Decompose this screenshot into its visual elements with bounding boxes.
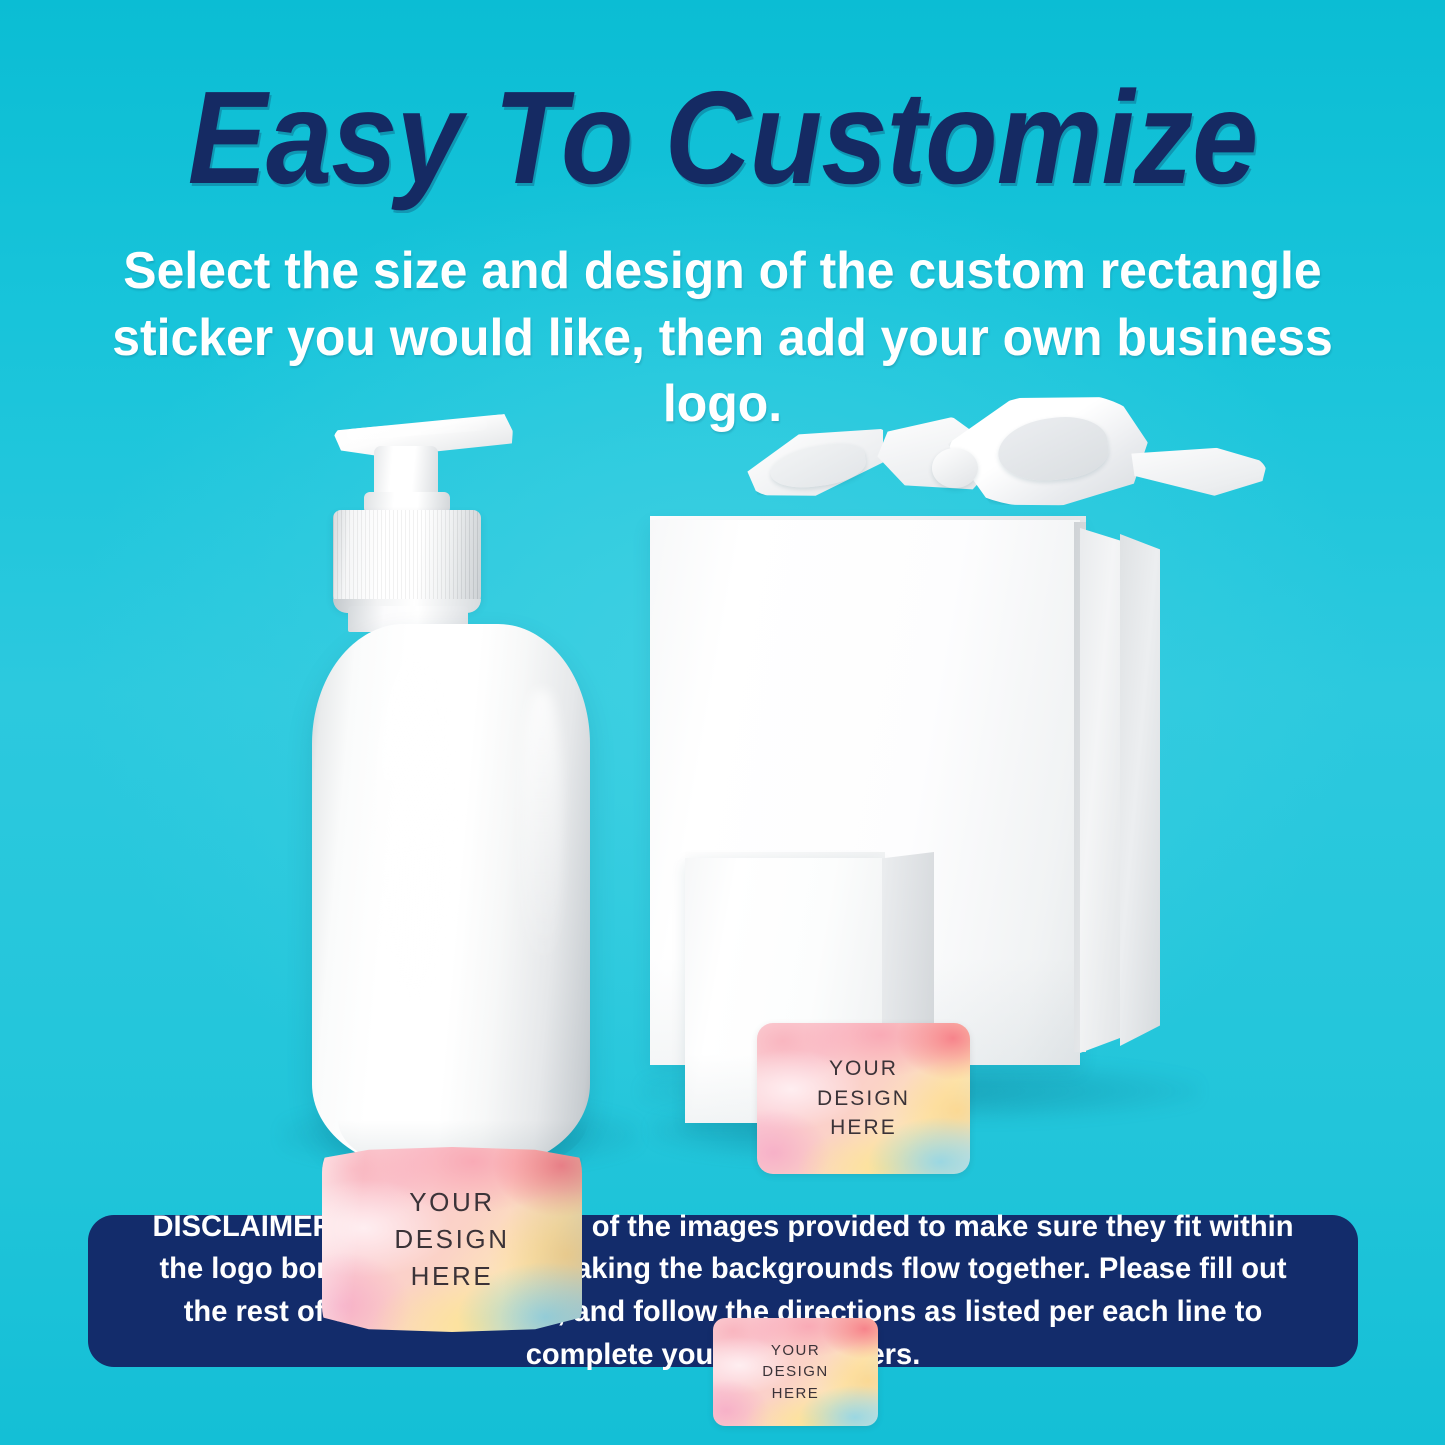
sticker-line-1: YOUR [762, 1340, 829, 1361]
ribbon-tail-right [1128, 437, 1269, 503]
ribbon-knot [932, 448, 978, 488]
sticker-on-gift-box[interactable]: YOUR DESIGN HERE [757, 1023, 970, 1174]
sticker-text: YOUR DESIGN HERE [817, 1054, 910, 1143]
gift-box-back-face [1120, 534, 1160, 1046]
bottle-body [312, 624, 590, 1170]
pump-bottle [300, 410, 600, 1170]
bottle-ribbed-collar [333, 510, 481, 608]
product-scene: YOUR DESIGN HERE YOUR DESIGN HERE YOUR D… [0, 360, 1445, 1190]
promo-banner: Easy To Customize Select the size and de… [0, 0, 1445, 1445]
sticker-line-2: DESIGN [762, 1361, 829, 1382]
sticker-line-3: HERE [762, 1383, 829, 1404]
sticker-on-small-box[interactable]: YOUR DESIGN HERE [713, 1318, 878, 1426]
sticker-on-bottle[interactable]: YOUR DESIGN HERE [322, 1147, 582, 1332]
sticker-line-3: HERE [817, 1113, 910, 1143]
sticker-text: YOUR DESIGN HERE [762, 1340, 829, 1404]
sticker-line-3: HERE [394, 1258, 509, 1295]
sticker-text: YOUR DESIGN HERE [394, 1184, 509, 1295]
gift-box-side-face [1080, 528, 1122, 1053]
sticker-line-2: DESIGN [394, 1221, 509, 1258]
disclaimer-label: DISCLAIMER: [152, 1210, 343, 1243]
page-title: Easy To Customize [72, 72, 1373, 204]
sticker-line-2: DESIGN [817, 1084, 910, 1114]
sticker-line-1: YOUR [394, 1184, 509, 1221]
sticker-line-1: YOUR [817, 1054, 910, 1084]
